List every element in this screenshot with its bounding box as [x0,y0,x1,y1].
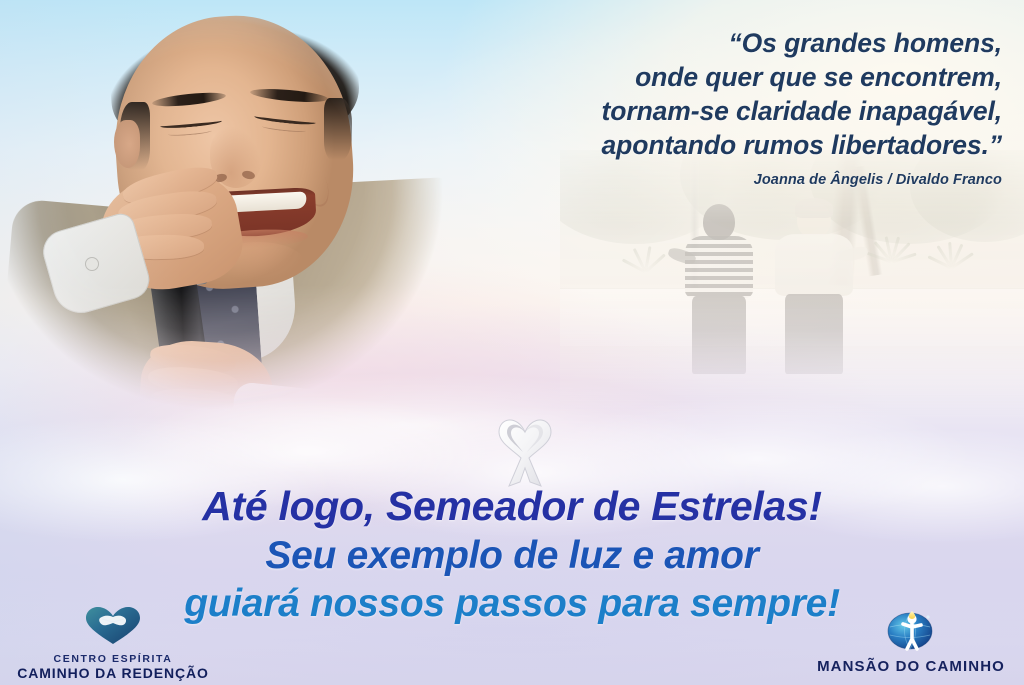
logo-mansao-do-caminho: MANSÃO DO CAMINHO [804,609,1018,675]
headline-line-1: Até logo, Semeador de Estrelas! [0,486,1024,527]
quote-line-2: onde quer que se encontrem, [422,60,1002,94]
logo-right-line-1: MANSÃO DO CAMINHO [804,658,1018,675]
quote-attribution: Joanna de Ângelis / Divaldo Franco [422,172,1002,188]
headline-line-2: Seu exemplo de luz e amor [0,536,1024,575]
white-mourning-ribbon-icon [487,412,563,490]
logo-left-line-2: CAMINHO DA REDENÇÃO [6,665,220,681]
poster-canvas: “Os grandes homens, onde quer que se enc… [0,0,1024,685]
quote-line-4: apontando rumos libertadores.” [422,128,1002,162]
heart-hands-icon [6,606,220,651]
logo-left-line-1: CENTRO ESPÍRITA [6,653,220,665]
quote-line-3: tornam-se claridade inapagável, [422,94,1002,128]
quote-block: “Os grandes homens, onde quer que se enc… [422,26,1002,188]
globe-figure-flame-icon [804,609,1018,656]
headline-block: Até logo, Semeador de Estrelas! Seu exem… [0,486,1024,623]
quote-line-1: “Os grandes homens, [422,26,1002,60]
logo-centro-espirita-caminho-da-redencao: CENTRO ESPÍRITA CAMINHO DA REDENÇÃO [6,606,220,681]
